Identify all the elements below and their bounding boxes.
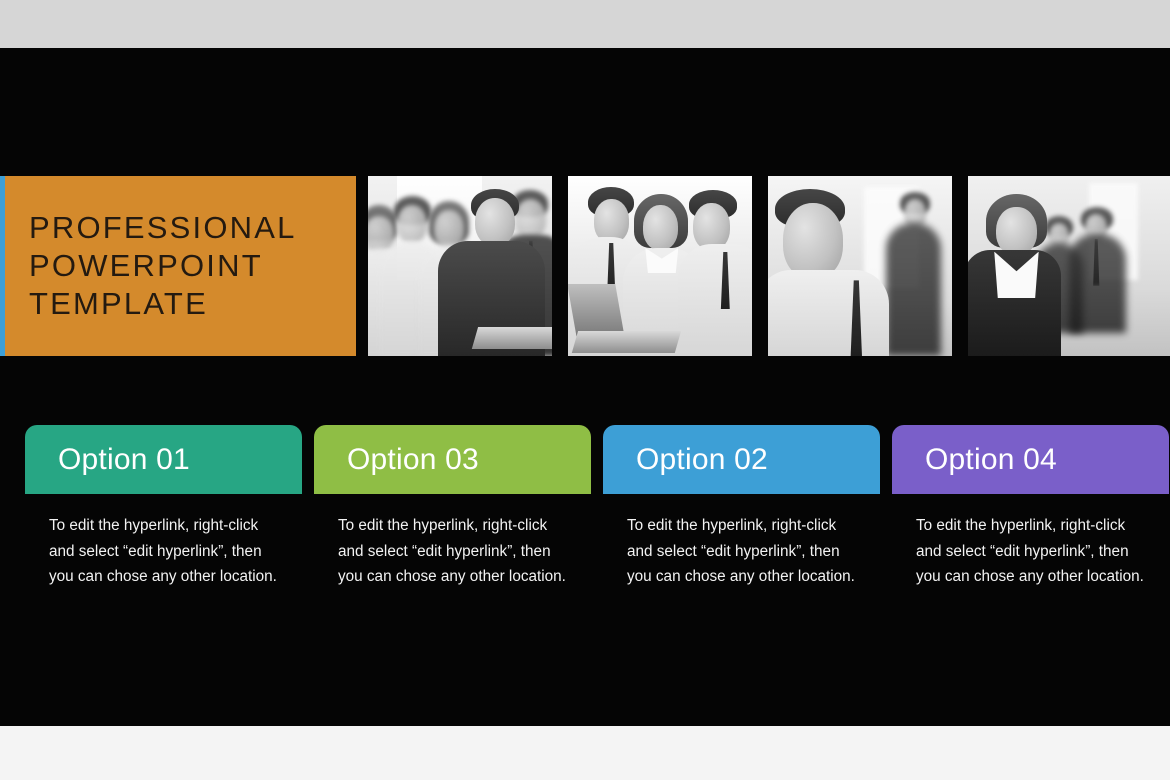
option-card-3-header[interactable]: Option 02 [603,425,880,494]
option-card-1-title: Option 01 [58,445,190,475]
option-card-3-title: Option 02 [636,445,768,475]
option-card-1-header[interactable]: Option 01 [25,425,302,494]
photo-laptop-trio [568,176,752,356]
photo-team-group [368,176,552,356]
option-card-2-title: Option 03 [347,445,479,475]
bottom-chrome-band [0,726,1170,780]
slide-canvas: PROFESSIONAL POWERPOINT TEMPLATE [0,0,1170,780]
option-card-2[interactable]: Option 03 To edit the hyperlink, right-c… [314,425,591,590]
option-card-4[interactable]: Option 04 To edit the hyperlink, right-c… [892,425,1169,590]
title-accent-bar [0,176,5,356]
option-card-4-title: Option 04 [925,445,1057,475]
option-card-1[interactable]: Option 01 To edit the hyperlink, right-c… [25,425,302,590]
option-card-4-body: To edit the hyperlink, right-click and s… [892,513,1169,590]
option-card-3-body: To edit the hyperlink, right-click and s… [603,513,880,590]
option-card-4-header[interactable]: Option 04 [892,425,1169,494]
slide-title: PROFESSIONAL POWERPOINT TEMPLATE [29,209,349,323]
presentation-slide: PROFESSIONAL POWERPOINT TEMPLATE [0,48,1170,726]
title-block: PROFESSIONAL POWERPOINT TEMPLATE [0,176,356,356]
option-card-3[interactable]: Option 02 To edit the hyperlink, right-c… [603,425,880,590]
photo-businessman-portrait [768,176,952,356]
option-card-2-body: To edit the hyperlink, right-click and s… [314,513,591,590]
option-card-1-body: To edit the hyperlink, right-click and s… [25,513,302,590]
photo-businesswoman-portrait [968,176,1170,356]
top-chrome-band [0,0,1170,48]
option-card-2-header[interactable]: Option 03 [314,425,591,494]
